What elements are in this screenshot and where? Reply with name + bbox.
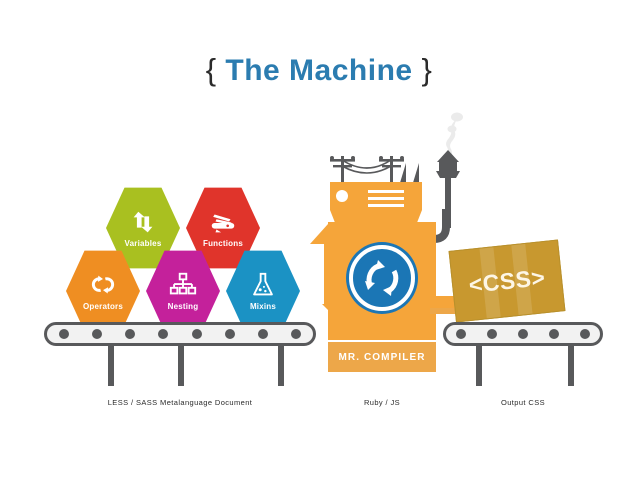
conveyor-left-belt [44,322,316,346]
conveyor-roller [454,327,468,341]
flask-icon [248,270,278,300]
hexagon-label: Operators [83,302,123,312]
conveyor-roller [516,327,530,341]
output-css-box[interactable]: <CSS> [449,239,566,322]
conveyor-roller [547,327,561,341]
caption-input: LESS / SASS Metalanguage Document [60,398,300,407]
title-close-brace: } [421,52,432,87]
slide-canvas: { The Machine } Variables Functions [0,0,638,479]
conveyor-roller [256,327,270,341]
caption-engine: Ruby / JS [330,398,434,407]
machine-name-plate: MR. COMPILER [328,342,436,372]
conveyor-roller [190,327,204,341]
conveyor-right-leg-2 [568,346,574,386]
caption-output: Output CSS [448,398,598,407]
conveyor-roller [156,327,170,341]
conveyor-roller [485,327,499,341]
conveyor-roller [578,327,592,341]
conveyor-left-leg-3 [278,346,284,386]
vent-slot-1 [368,190,404,193]
conveyor-roller [123,327,137,341]
hexagon-label: Variables [125,239,162,249]
conveyor-left-leg-2 [178,346,184,386]
page-title: { The Machine } [0,52,638,88]
dial-icon [336,190,348,202]
conveyor-roller [90,327,104,341]
swiss-army-knife-icon [208,207,238,237]
vent-slot-2 [368,197,404,200]
hexagon-label: Functions [203,239,243,249]
conveyor-roller [223,327,237,341]
conveyor-right-belt [443,322,603,346]
title-open-brace: { [206,52,217,87]
machine-notch-cut [306,244,324,304]
hexagon-label: Mixins [250,302,276,312]
machine-name-text: MR. COMPILER [338,352,425,363]
conveyor-roller [289,327,303,341]
retweet-arrows-icon [128,207,158,237]
conveyor-left-leg-1 [108,346,114,386]
conveyor-right-leg-1 [476,346,482,386]
recycle-circle-icon[interactable] [345,241,419,315]
title-text: The Machine [225,54,412,87]
vent-slot-3 [368,204,404,207]
conveyor-roller [57,327,71,341]
hierarchy-tree-icon [168,270,198,300]
output-css-label: <CSS> [467,264,546,299]
linked-circular-arrows-icon [88,270,118,300]
hexagon-label: Nesting [168,302,199,312]
